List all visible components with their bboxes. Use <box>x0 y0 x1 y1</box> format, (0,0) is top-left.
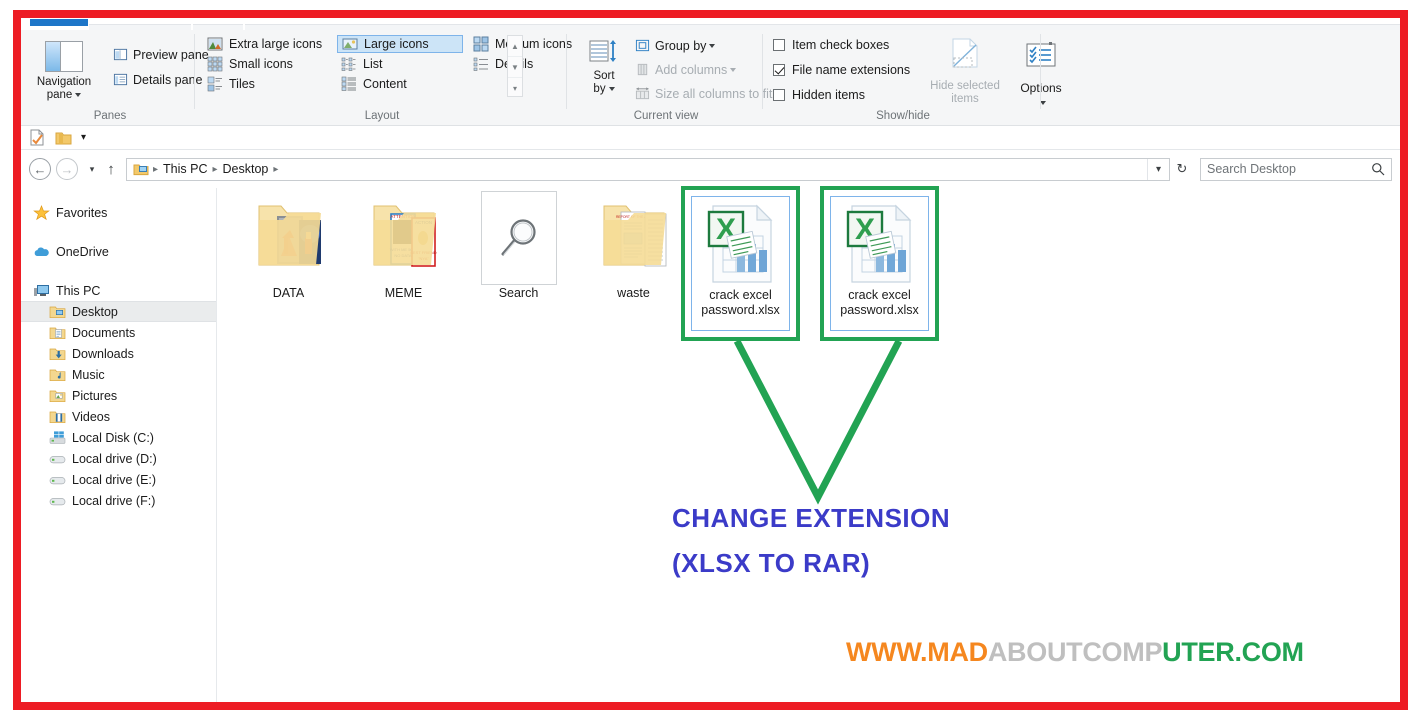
sidebar-item-favorites[interactable]: Favorites <box>21 202 216 223</box>
up-button[interactable]: ↑ <box>102 161 120 178</box>
drive-icon <box>49 472 66 488</box>
search-box[interactable]: Search Desktop <box>1200 158 1392 181</box>
sort-by-button[interactable]: Sort by <box>581 35 627 107</box>
layout-medium-icons[interactable]: Medium icons <box>469 35 579 53</box>
annotation-line-1: CHANGE EXTENSION <box>672 503 950 534</box>
group-by-label: Group by <box>655 39 706 53</box>
layout-label: Content <box>363 77 407 91</box>
file-list-view[interactable]: DATA ATTENTION WITH ME 50% NO DATA <box>217 188 1400 702</box>
sidebar-item-videos[interactable]: Videos <box>21 406 216 427</box>
ribbon-group-label-layout: Layout <box>197 110 567 122</box>
group-by-icon <box>635 38 650 53</box>
layout-label: Large icons <box>364 37 429 51</box>
explorer-body: Favorites OneDrive <box>21 188 1400 702</box>
medium-icons-icon <box>473 36 489 52</box>
sidebar-item-label: Local drive (F:) <box>72 494 155 508</box>
address-bar-row: ← → ▾ ↑ ▸ This PC ▸ Desktop ▸ ▾ ↻ Sea <box>21 151 1400 187</box>
sidebar-item-label: Pictures <box>72 389 117 403</box>
large-icons-icon <box>342 36 358 52</box>
size-all-columns-icon <box>635 86 650 101</box>
ribbon-group-label-current-view: Current view <box>569 110 763 122</box>
breadcrumb-separator: ▸ <box>151 164 160 175</box>
breadcrumb-item-this-pc[interactable]: This PC <box>160 162 210 176</box>
sidebar-item-label: Local drive (E:) <box>72 473 156 487</box>
green-highlight-box-2: X crack excel passwo <box>820 186 939 341</box>
navigation-pane-label-line1: Navigation <box>37 76 91 88</box>
refresh-button[interactable]: ↻ <box>1170 151 1194 187</box>
sidebar-item-local-disk-c[interactable]: Local Disk (C:) <box>21 427 216 448</box>
details-pane-label: Details pane <box>133 73 203 87</box>
tab-active-indicator[interactable] <box>30 19 88 26</box>
pc-icon <box>33 283 50 299</box>
layout-details[interactable]: Details <box>469 55 579 73</box>
system-drive-icon <box>49 430 66 446</box>
sidebar-item-local-drive-d[interactable]: Local drive (D:) <box>21 448 216 469</box>
ribbon-group-label-show-hide: Show/hide <box>765 110 1041 122</box>
ribbon-group-label-panes: Panes <box>25 110 195 122</box>
hidden-items-option[interactable]: Hidden items <box>773 88 865 102</box>
this-pc-icon <box>133 162 149 177</box>
group-by-button[interactable]: Group by <box>635 38 715 53</box>
forward-button[interactable]: → <box>56 158 78 180</box>
breadcrumb-separator: ▸ <box>271 164 280 175</box>
options-icon <box>1024 41 1058 73</box>
layout-label: Small icons <box>229 57 293 71</box>
file-item-crack-excel-password-2[interactable]: X crack excel passwo <box>806 194 921 301</box>
sidebar-item-label: Favorites <box>56 206 107 220</box>
excel-file-icon: X <box>703 202 779 286</box>
navigation-pane-button[interactable]: Navigation pane <box>33 35 95 107</box>
star-icon <box>33 205 50 221</box>
add-columns-button: Add columns <box>635 62 736 77</box>
options-button[interactable]: Options <box>1011 35 1071 111</box>
new-folder-icon[interactable] <box>55 130 72 146</box>
file-grid: DATA ATTENTION WITH ME 50% NO DATA <box>231 194 921 301</box>
properties-icon[interactable] <box>29 129 46 146</box>
search-input[interactable]: Search Desktop <box>1207 162 1371 176</box>
file-name-label: waste <box>617 286 650 301</box>
sidebar-item-desktop[interactable]: Desktop <box>21 301 216 322</box>
sidebar-item-label: Documents <box>72 326 135 340</box>
gallery-scroll-up-icon[interactable]: ▲ <box>508 36 522 56</box>
sort-by-label-line2: by <box>593 83 605 95</box>
file-item-crack-excel-password-1[interactable]: X crack excel passwo <box>691 194 806 301</box>
address-breadcrumb-bar[interactable]: ▸ This PC ▸ Desktop ▸ ▾ <box>126 158 1170 181</box>
sort-by-icon <box>589 39 619 67</box>
ribbon-group-panes: Navigation pane Preview pane <box>25 30 195 125</box>
navigation-pane: Favorites OneDrive <box>21 188 217 702</box>
sidebar-item-downloads[interactable]: Downloads <box>21 343 216 364</box>
add-columns-label: Add columns <box>655 63 727 77</box>
extra-large-icons-icon <box>207 36 223 52</box>
sidebar-item-label: This PC <box>56 284 100 298</box>
green-highlight-box-1: X crack excel passwo <box>681 186 800 341</box>
file-item-meme[interactable]: ATTENTION WITH ME 50% NO DATA ACTION BES… <box>346 194 461 301</box>
watermark-part-3: UTER.COM <box>1162 637 1304 667</box>
ribbon: Navigation pane Preview pane <box>21 30 1400 126</box>
recent-locations-chevron-icon[interactable]: ▾ <box>84 164 100 175</box>
watermark-part-2: ABOUTCOMP <box>988 637 1162 667</box>
ribbon-group-current-view: Sort by Group by <box>569 30 763 125</box>
folder-documents-icon: REPORT OF THE ALL <box>596 194 672 282</box>
size-all-columns-button: Size all columns to fit <box>635 86 772 101</box>
cloud-icon <box>33 244 50 260</box>
hide-selected-items-label-line1: Hide selected <box>930 80 1000 92</box>
search-icon[interactable] <box>1371 162 1385 176</box>
drive-icon <box>49 451 66 467</box>
hide-selected-items-button: Hide selected items <box>925 35 1005 111</box>
file-name-label: crack excel password.xlsx <box>831 288 928 318</box>
navigation-pane-label-line2: pane <box>47 89 73 101</box>
saved-search-file <box>481 194 557 282</box>
sidebar-item-label: Downloads <box>72 347 134 361</box>
hide-selected-items-label-line2: items <box>951 93 978 105</box>
selection-box-2: X crack excel passwo <box>830 196 929 331</box>
layout-label: List <box>363 57 382 71</box>
excel-file-icon: X <box>842 202 918 286</box>
annotation-line-2: (XLSX TO RAR) <box>672 548 870 579</box>
layout-label: Tiles <box>229 77 255 91</box>
layout-list[interactable]: List <box>337 55 463 73</box>
file-item-search[interactable]: Search <box>461 194 576 301</box>
hide-selected-items-icon <box>948 37 982 73</box>
layout-small-icons[interactable]: Small icons <box>203 55 331 73</box>
drive-icon <box>49 493 66 509</box>
content-icon <box>341 76 357 92</box>
item-check-boxes-option[interactable]: Item check boxes <box>773 38 889 52</box>
selection-box-1: X crack excel passwo <box>691 196 790 331</box>
chevron-down-icon <box>709 44 715 48</box>
sidebar-item-label: Local drive (D:) <box>72 452 157 466</box>
layout-content[interactable]: Content <box>337 75 463 93</box>
pictures-folder-icon <box>49 388 66 404</box>
details-pane-icon <box>113 72 128 87</box>
downloads-folder-icon <box>49 346 66 362</box>
item-check-boxes-label: Item check boxes <box>792 38 889 52</box>
tiles-icon <box>207 76 223 92</box>
saved-search-box <box>481 191 557 285</box>
file-name-extensions-checkbox[interactable] <box>773 64 785 76</box>
address-history-chevron-icon[interactable]: ▾ <box>1147 159 1169 180</box>
size-all-columns-label: Size all columns to fit <box>655 87 772 101</box>
details-pane-button[interactable]: Details pane <box>113 72 203 87</box>
breadcrumb-item-desktop[interactable]: Desktop <box>220 162 272 176</box>
ribbon-group-layout: Extra large icons Large icons <box>197 30 567 125</box>
watermark-part-1: WWW.MAD <box>846 637 988 667</box>
file-item-data[interactable]: DATA <box>231 194 346 301</box>
watermark: WWW.MADABOUTCOMPUTER.COM <box>846 637 1304 668</box>
navigation-pane-icon <box>45 41 83 72</box>
documents-folder-icon <box>49 325 66 341</box>
folder-pictures-icon <box>251 194 327 282</box>
layout-gallery-scrollbar[interactable]: ▲ ▼ ▾ <box>507 35 523 97</box>
file-name-label: DATA <box>273 286 304 301</box>
sidebar-item-label: Videos <box>72 410 110 424</box>
file-name-label: MEME <box>385 286 423 301</box>
gallery-scroll-down-icon[interactable]: ▼ <box>508 56 522 77</box>
add-columns-icon <box>635 62 650 77</box>
folder-pictures-icon: ATTENTION WITH ME 50% NO DATA ACTION BES… <box>366 194 442 282</box>
file-name-label: Search <box>499 286 539 301</box>
sort-by-label-line1: Sort <box>593 70 614 82</box>
chevron-down-icon <box>75 93 81 97</box>
magnifier-icon <box>494 213 544 263</box>
sidebar-item-local-drive-e[interactable]: Local drive (E:) <box>21 469 216 490</box>
ribbon-group-show-hide: Item check boxes File name extensions Hi… <box>765 30 1041 125</box>
chevron-down-icon <box>730 68 736 72</box>
sidebar-item-documents[interactable]: Documents <box>21 322 216 343</box>
gallery-expand-icon[interactable]: ▾ <box>508 77 522 98</box>
sidebar-item-pictures[interactable]: Pictures <box>21 385 216 406</box>
layout-extra-large-icons[interactable]: Extra large icons <box>203 35 331 53</box>
chevron-down-icon <box>609 87 615 91</box>
hidden-items-checkbox[interactable] <box>773 89 785 101</box>
sidebar-item-label: Music <box>72 368 105 382</box>
screenshot-stage: Navigation pane Preview pane <box>0 0 1421 727</box>
sidebar-item-local-drive-f[interactable]: Local drive (F:) <box>21 490 216 511</box>
details-icon <box>473 56 489 72</box>
videos-folder-icon <box>49 409 66 425</box>
sidebar-item-music[interactable]: Music <box>21 364 216 385</box>
list-icon <box>341 56 357 72</box>
item-check-boxes-checkbox[interactable] <box>773 39 785 51</box>
back-button[interactable]: ← <box>29 158 51 180</box>
sidebar-item-label: OneDrive <box>56 245 109 259</box>
music-folder-icon <box>49 367 66 383</box>
sidebar-item-label: Local Disk (C:) <box>72 431 154 445</box>
breadcrumb-separator: ▸ <box>210 164 219 175</box>
file-name-extensions-label: File name extensions <box>792 63 910 77</box>
layout-tiles[interactable]: Tiles <box>203 75 331 93</box>
desktop-folder-icon <box>49 304 66 320</box>
customize-quick-access-chevron-icon[interactable]: ▾ <box>81 132 86 143</box>
small-icons-icon <box>207 56 223 72</box>
file-name-extensions-option[interactable]: File name extensions <box>773 63 910 77</box>
sidebar-item-label: Desktop <box>72 305 118 319</box>
sidebar-item-onedrive[interactable]: OneDrive <box>21 241 216 262</box>
file-explorer-window: Navigation pane Preview pane <box>21 18 1400 702</box>
file-name-label: crack excel password.xlsx <box>692 288 789 318</box>
hidden-items-label: Hidden items <box>792 88 865 102</box>
file-item-waste[interactable]: REPORT OF THE ALL <box>576 194 691 301</box>
quick-access-toolbar: ▾ <box>21 126 1400 150</box>
sidebar-item-this-pc[interactable]: This PC <box>21 280 216 301</box>
layout-label: Extra large icons <box>229 37 322 51</box>
layout-large-icons[interactable]: Large icons <box>337 35 463 53</box>
preview-pane-icon <box>113 47 128 62</box>
